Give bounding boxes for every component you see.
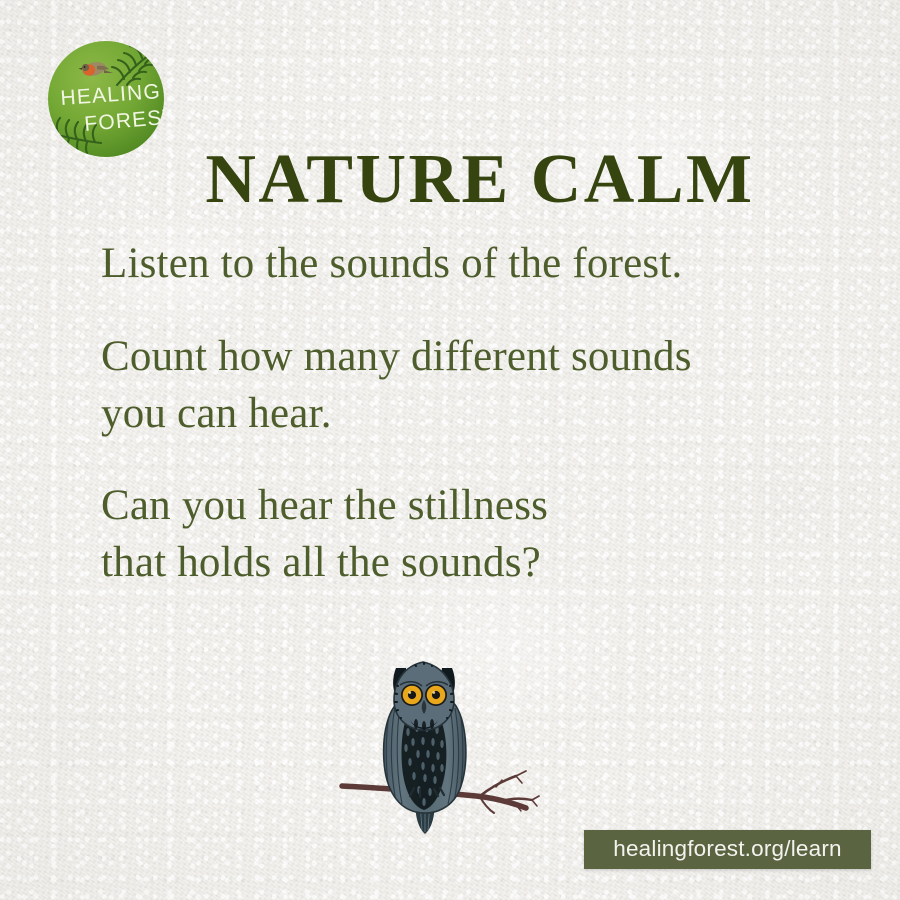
owl-eye-left — [401, 684, 423, 706]
paragraph-3-line-1: Can you hear the stillness — [101, 478, 871, 535]
paragraph-3: Can you hear the stillness that holds al… — [101, 478, 871, 592]
paragraph-3-line-2: that holds all the sounds? — [101, 535, 871, 592]
paragraph-2-line-1: Count how many different sounds — [101, 329, 871, 386]
owl-illustration — [330, 638, 540, 838]
card-content: HEALING FOREST NATURE CALM Listen to the… — [0, 0, 900, 900]
healing-forest-logo[interactable]: HEALING FOREST — [47, 37, 165, 161]
website-url-badge[interactable]: healingforest.org/learn — [584, 830, 871, 869]
paragraph-2: Count how many different sounds you can … — [101, 329, 871, 443]
paragraph-1-line-1: Listen to the sounds of the forest. — [101, 236, 871, 293]
nature-calm-card: HEALING FOREST NATURE CALM Listen to the… — [0, 0, 900, 900]
page-title: NATURE CALM — [0, 145, 900, 215]
owl-eye-right — [425, 684, 447, 706]
paragraph-1: Listen to the sounds of the forest. — [101, 236, 871, 293]
body-copy: Listen to the sounds of the forest. Coun… — [101, 236, 871, 592]
paragraph-2-line-2: you can hear. — [101, 386, 871, 443]
website-url-text: healingforest.org/learn — [613, 838, 842, 861]
